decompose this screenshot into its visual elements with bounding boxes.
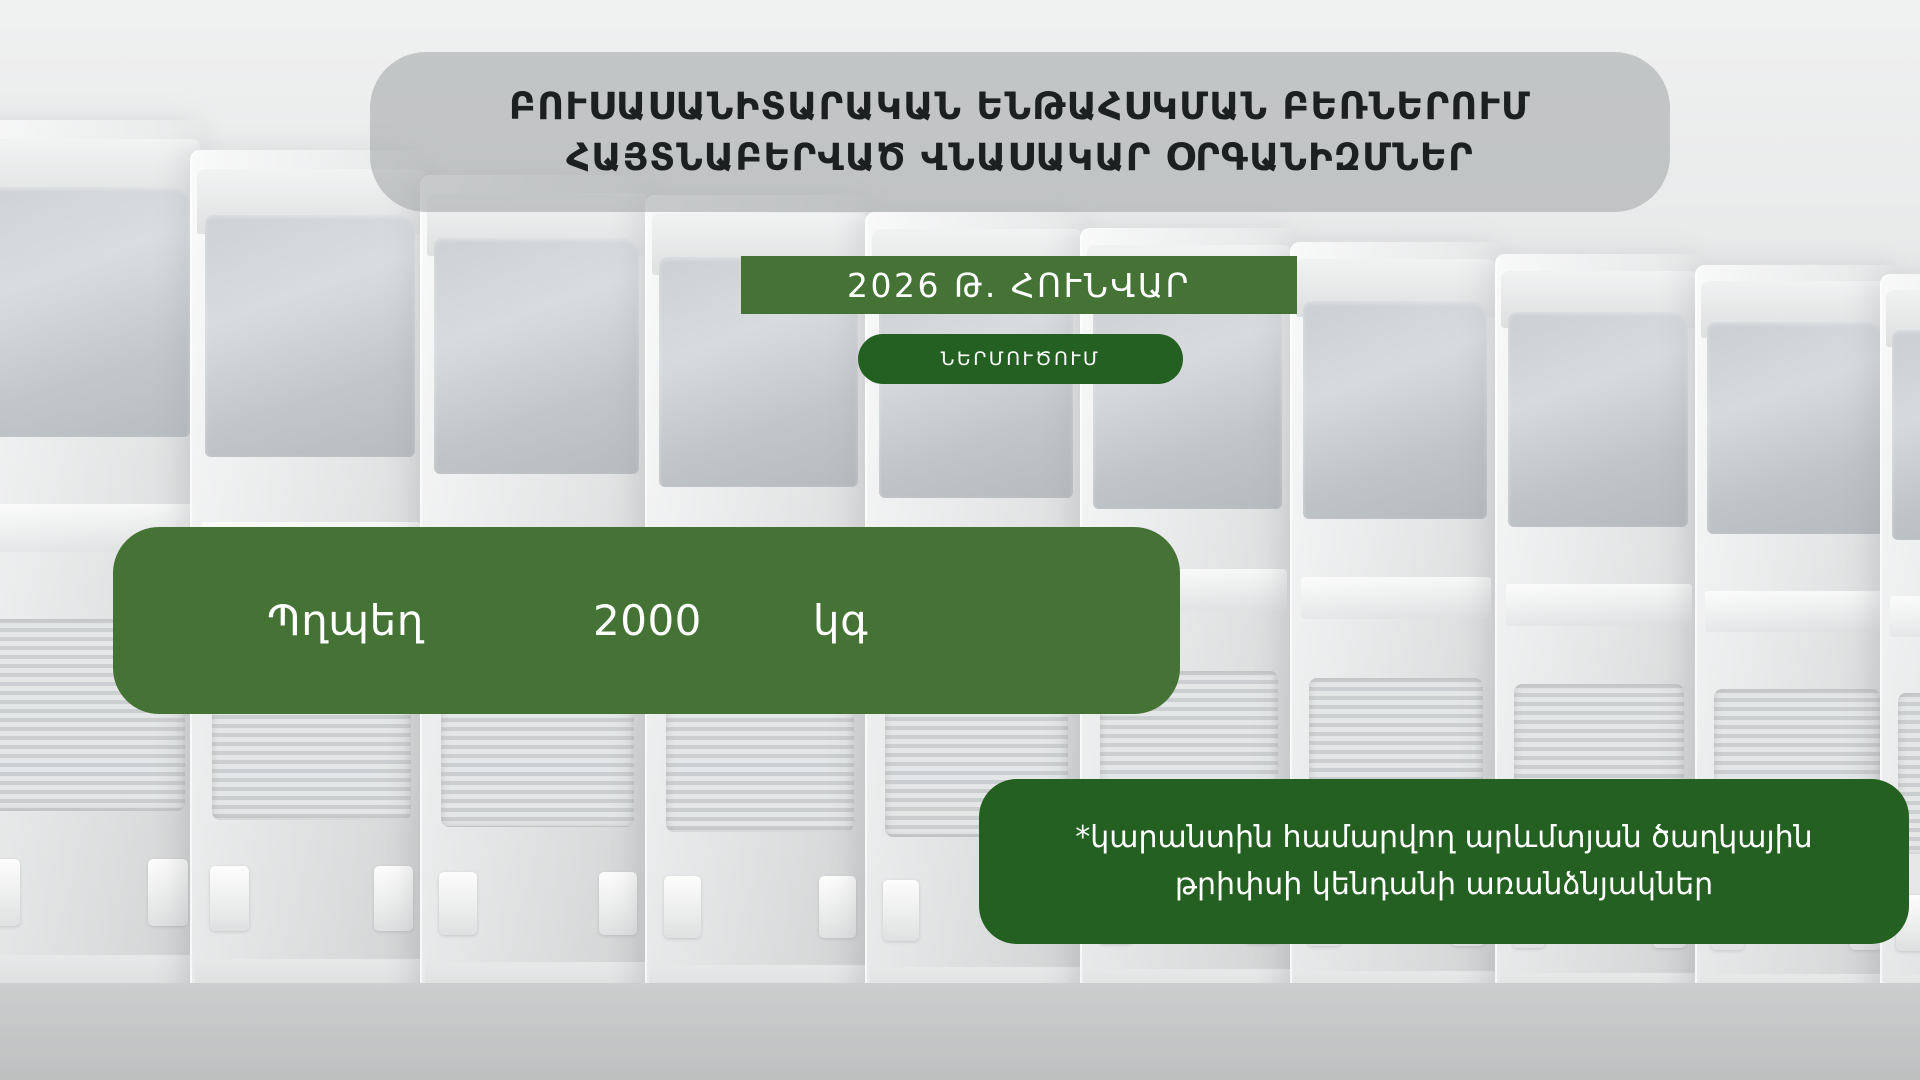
footnote-line-1: *կարանտին համարվող արևմտյան ծաղկային xyxy=(1075,818,1812,859)
operation-label: ՆԵՐՄՈՒԾՈՒՄ xyxy=(941,348,1101,370)
operation-badge: ՆԵՐՄՈՒԾՈՒՄ xyxy=(858,334,1183,384)
page-title: ԲՈՒՍԱՍԱՆԻՏԱՐԱԿԱՆ ԵՆԹԱՀՍԿՄԱՆ ԲԵՌՆԵՐՈՒՄ ՀԱ… xyxy=(370,52,1670,212)
page-title-line-2: ՀԱՅՏՆԱԲԵՐՎԱԾ ՎՆԱՍԱԿԱՐ ՕՐԳԱՆԻԶՄՆԵՐ xyxy=(566,134,1474,181)
period-banner: 2026 Թ. ՀՈՒՆՎԱՐ xyxy=(741,256,1297,314)
period-label: 2026 Թ. ՀՈՒՆՎԱՐ xyxy=(847,266,1191,305)
slide-content: ԲՈՒՍԱՍԱՆԻՏԱՐԱԿԱՆ ԵՆԹԱՀՍԿՄԱՆ ԲԵՌՆԵՐՈՒՄ ՀԱ… xyxy=(0,0,1920,1080)
record-unit: կգ xyxy=(813,596,868,645)
page-title-line-1: ԲՈՒՍԱՍԱՆԻՏԱՐԱԿԱՆ ԵՆԹԱՀՍԿՄԱՆ ԲԵՌՆԵՐՈՒՄ xyxy=(509,83,1531,130)
record-card: Պղպեղ 2000 կգ xyxy=(113,527,1180,714)
footnote-card: *կարանտին համարվող արևմտյան ծաղկային թրի… xyxy=(979,779,1909,944)
record-product: Պղպեղ xyxy=(267,596,424,645)
footnote-line-2: թրիփսի կենդանի առանձնյակներ xyxy=(1175,865,1713,906)
record-quantity: 2000 xyxy=(593,596,702,645)
